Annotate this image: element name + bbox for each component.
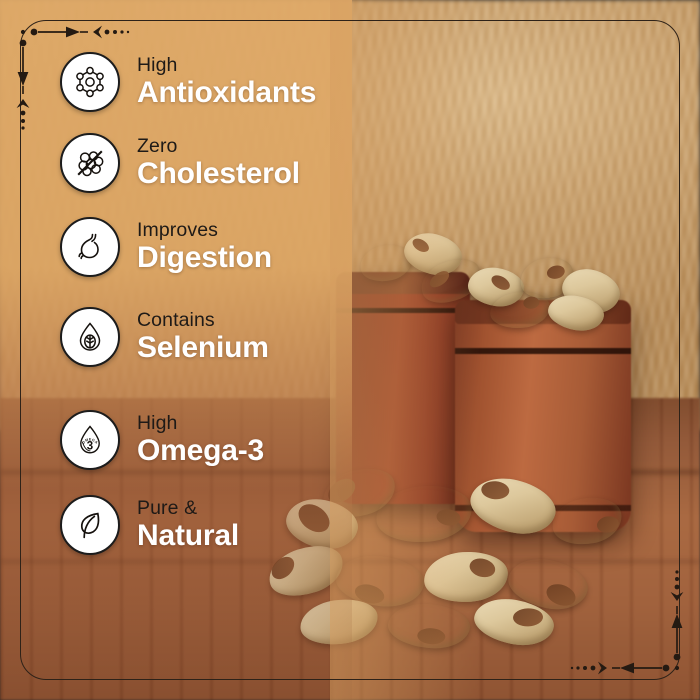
- droplet-plant-icon: [60, 307, 120, 367]
- benefit-text: High Omega-3: [137, 414, 264, 467]
- benefit-label: Improves: [137, 221, 272, 241]
- benefit-text: High Antioxidants: [137, 56, 316, 109]
- benefit-title: Omega-3: [137, 436, 264, 466]
- benefit-title: Selenium: [137, 333, 269, 363]
- leaf-icon: [60, 495, 120, 555]
- benefit-row-selenium[interactable]: Contains Selenium: [60, 307, 269, 367]
- benefit-label: Pure &: [137, 499, 239, 519]
- infographic-poster: High Antioxidants Zero Cho: [0, 0, 700, 700]
- benefits-list: High Antioxidants Zero Cho: [0, 0, 700, 700]
- benefit-label: Zero: [137, 137, 300, 157]
- benefit-row-antioxidants[interactable]: High Antioxidants: [60, 52, 316, 112]
- benefit-row-cholesterol[interactable]: Zero Cholesterol: [60, 133, 300, 193]
- svg-text:3: 3: [87, 441, 93, 453]
- benefit-title: Cholesterol: [137, 159, 300, 189]
- benefit-text: Zero Cholesterol: [137, 137, 300, 190]
- benefit-row-omega3[interactable]: OMEGA 3 High Omega-3: [60, 410, 264, 470]
- omega-droplet-icon: OMEGA 3: [60, 410, 120, 470]
- benefit-text: Improves Digestion: [137, 221, 272, 274]
- benefit-row-natural[interactable]: Pure & Natural: [60, 495, 239, 555]
- molecule-icon: [60, 52, 120, 112]
- benefit-text: Pure & Natural: [137, 499, 239, 552]
- benefit-text: Contains Selenium: [137, 311, 269, 364]
- benefit-title: Antioxidants: [137, 78, 316, 108]
- no-cholesterol-icon: [60, 133, 120, 193]
- benefit-label: Contains: [137, 311, 269, 331]
- stomach-icon: [60, 217, 120, 277]
- benefit-label: High: [137, 414, 264, 434]
- benefit-row-digestion[interactable]: Improves Digestion: [60, 217, 272, 277]
- benefit-title: Digestion: [137, 243, 272, 273]
- benefit-label: High: [137, 56, 316, 76]
- benefit-title: Natural: [137, 521, 239, 551]
